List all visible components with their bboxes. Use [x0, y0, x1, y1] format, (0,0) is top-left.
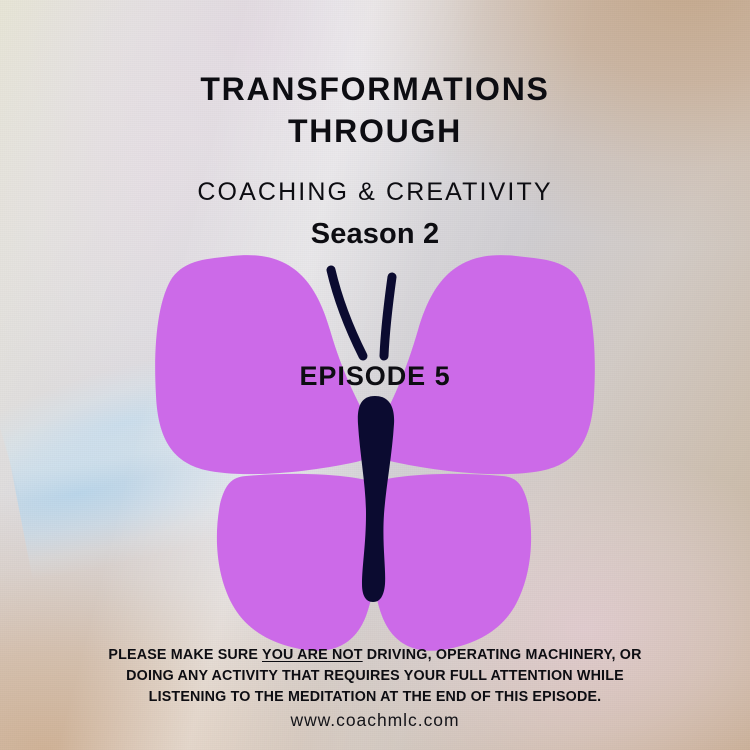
disclaimer-text: PLEASE MAKE SURE YOU ARE NOT DRIVING, OP… [0, 645, 750, 708]
title-line-1: TRANSFORMATIONS [200, 71, 549, 107]
disclaimer-line-2: DOING ANY ACTIVITY THAT REQUIRES YOUR FU… [88, 666, 662, 687]
title-line-2: THROUGH [0, 110, 750, 152]
podcast-cover-canvas: TRANSFORMATIONS THROUGH COACHING & CREAT… [0, 0, 750, 750]
episode-label: EPISODE 5 [0, 361, 750, 392]
disclaimer-line-3: LISTENING TO THE MEDITATION AT THE END O… [88, 687, 662, 708]
website-url[interactable]: www.coachmlc.com [0, 710, 750, 731]
disclaimer-line-1: PLEASE MAKE SURE YOU ARE NOT DRIVING, OP… [88, 645, 662, 666]
subtitle: COACHING & CREATIVITY [0, 178, 750, 207]
disclaimer-line-1-before: PLEASE MAKE SURE [108, 647, 262, 663]
disclaimer-emphasis: YOU ARE NOT [262, 647, 363, 663]
season-label: Season 2 [0, 218, 750, 251]
disclaimer-line-1-after: DRIVING, OPERATING MACHINERY, OR [363, 647, 642, 663]
page-title: TRANSFORMATIONS THROUGH [0, 68, 750, 152]
